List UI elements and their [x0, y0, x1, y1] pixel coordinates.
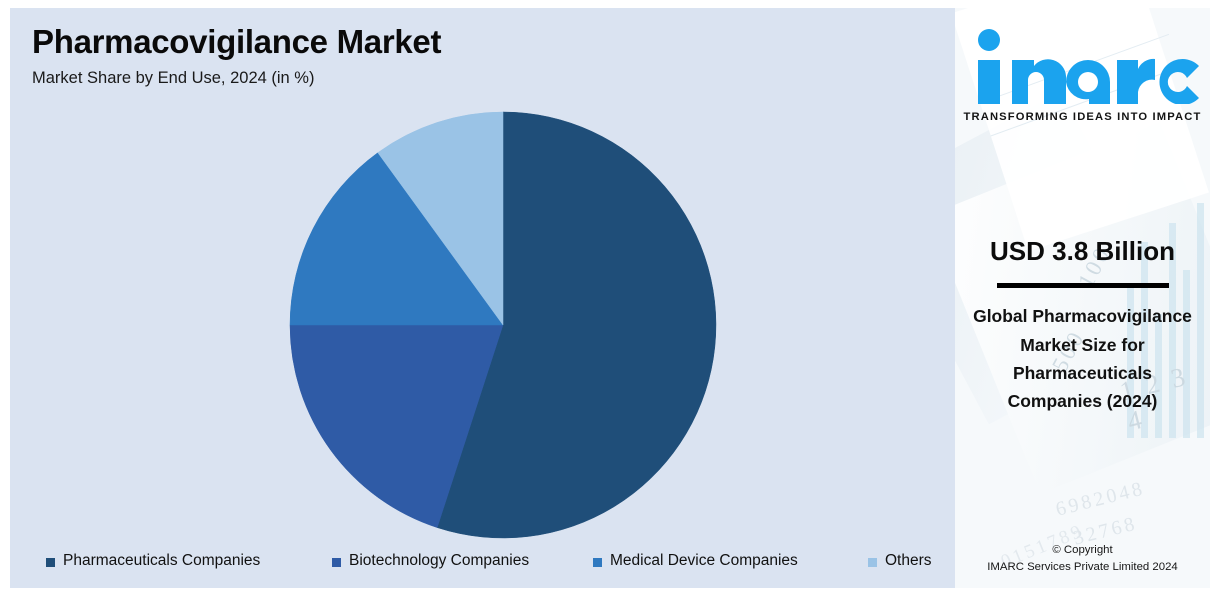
copyright-block: © Copyright IMARC Services Private Limit… — [955, 542, 1210, 576]
copyright-line-2: IMARC Services Private Limited 2024 — [955, 559, 1210, 576]
brand-logo-block: TRANSFORMING IDEAS INTO IMPACT — [955, 26, 1210, 123]
stat-block: USD 3.8 Billion Global Pharmacovigilance… — [955, 236, 1210, 416]
brand-tagline: TRANSFORMING IDEAS INTO IMPACT — [955, 111, 1210, 123]
pie-chart — [289, 111, 717, 539]
legend-label-medical-device-companies: Medical Device Companies — [610, 548, 798, 574]
legend-label-biotechnology-companies: Biotechnology Companies — [349, 548, 529, 574]
infographic-root: Pharmacovigilance Market Market Share by… — [0, 0, 1220, 596]
stat-description: Global Pharmacovigilance Market Size for… — [955, 302, 1210, 415]
legend-item-pharmaceuticals-companies[interactable]: Pharmaceuticals Companies — [46, 548, 260, 574]
legend-swatch-others — [868, 558, 877, 567]
chart-panel: Pharmacovigilance Market Market Share by… — [10, 8, 955, 588]
legend-item-medical-device-companies[interactable]: Medical Device Companies — [593, 548, 798, 574]
legend-label-others: Others — [885, 548, 932, 574]
page-subtitle: Market Share by End Use, 2024 (in %) — [32, 69, 792, 88]
legend-swatch-pharmaceuticals-companies — [46, 558, 55, 567]
title-block: Pharmacovigilance Market Market Share by… — [32, 24, 792, 88]
copyright-line-1: © Copyright — [955, 542, 1210, 559]
stat-value: USD 3.8 Billion — [955, 236, 1210, 267]
stat-divider — [997, 283, 1169, 288]
brand-panel: 500 100 1 2 3 4 6982048 32768 0151789 — [955, 8, 1210, 588]
legend-swatch-biotechnology-companies — [332, 558, 341, 567]
legend-label-pharmaceuticals-companies: Pharmaceuticals Companies — [63, 548, 260, 574]
infographic-canvas: Pharmacovigilance Market Market Share by… — [10, 8, 1210, 588]
pie-chart-svg — [289, 111, 717, 539]
legend-item-others[interactable]: Others — [868, 548, 932, 574]
chart-legend: Pharmaceuticals Companies Biotechnology … — [10, 548, 955, 578]
page-title: Pharmacovigilance Market — [32, 24, 792, 60]
legend-swatch-medical-device-companies — [593, 558, 602, 567]
imarc-logo-icon — [967, 26, 1199, 104]
legend-item-biotechnology-companies[interactable]: Biotechnology Companies — [332, 548, 529, 574]
